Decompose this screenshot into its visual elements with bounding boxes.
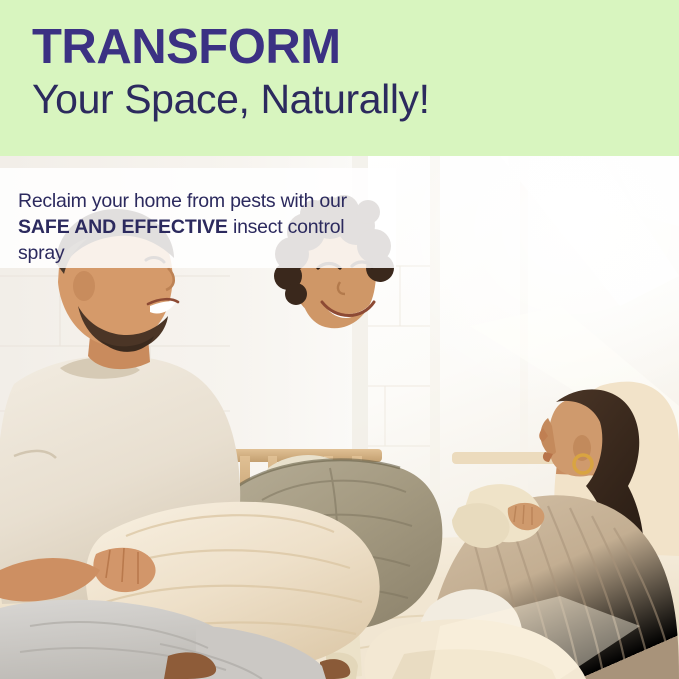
page-title: TRANSFORM (32, 19, 341, 75)
caption-emphasis: SAFE AND EFFECTIVE (18, 216, 228, 238)
header-band: TRANSFORM Your Space, Naturally! (0, 0, 679, 156)
ad-creative: TRANSFORM Your Space, Naturally! (0, 0, 679, 679)
page-subtitle: Your Space, Naturally! (32, 74, 430, 124)
caption-text: Reclaim your home from pests with our SA… (18, 188, 378, 266)
caption-panel: Reclaim your home from pests with our SA… (0, 168, 396, 268)
caption-lead: Reclaim your home from pests with our (18, 190, 347, 212)
